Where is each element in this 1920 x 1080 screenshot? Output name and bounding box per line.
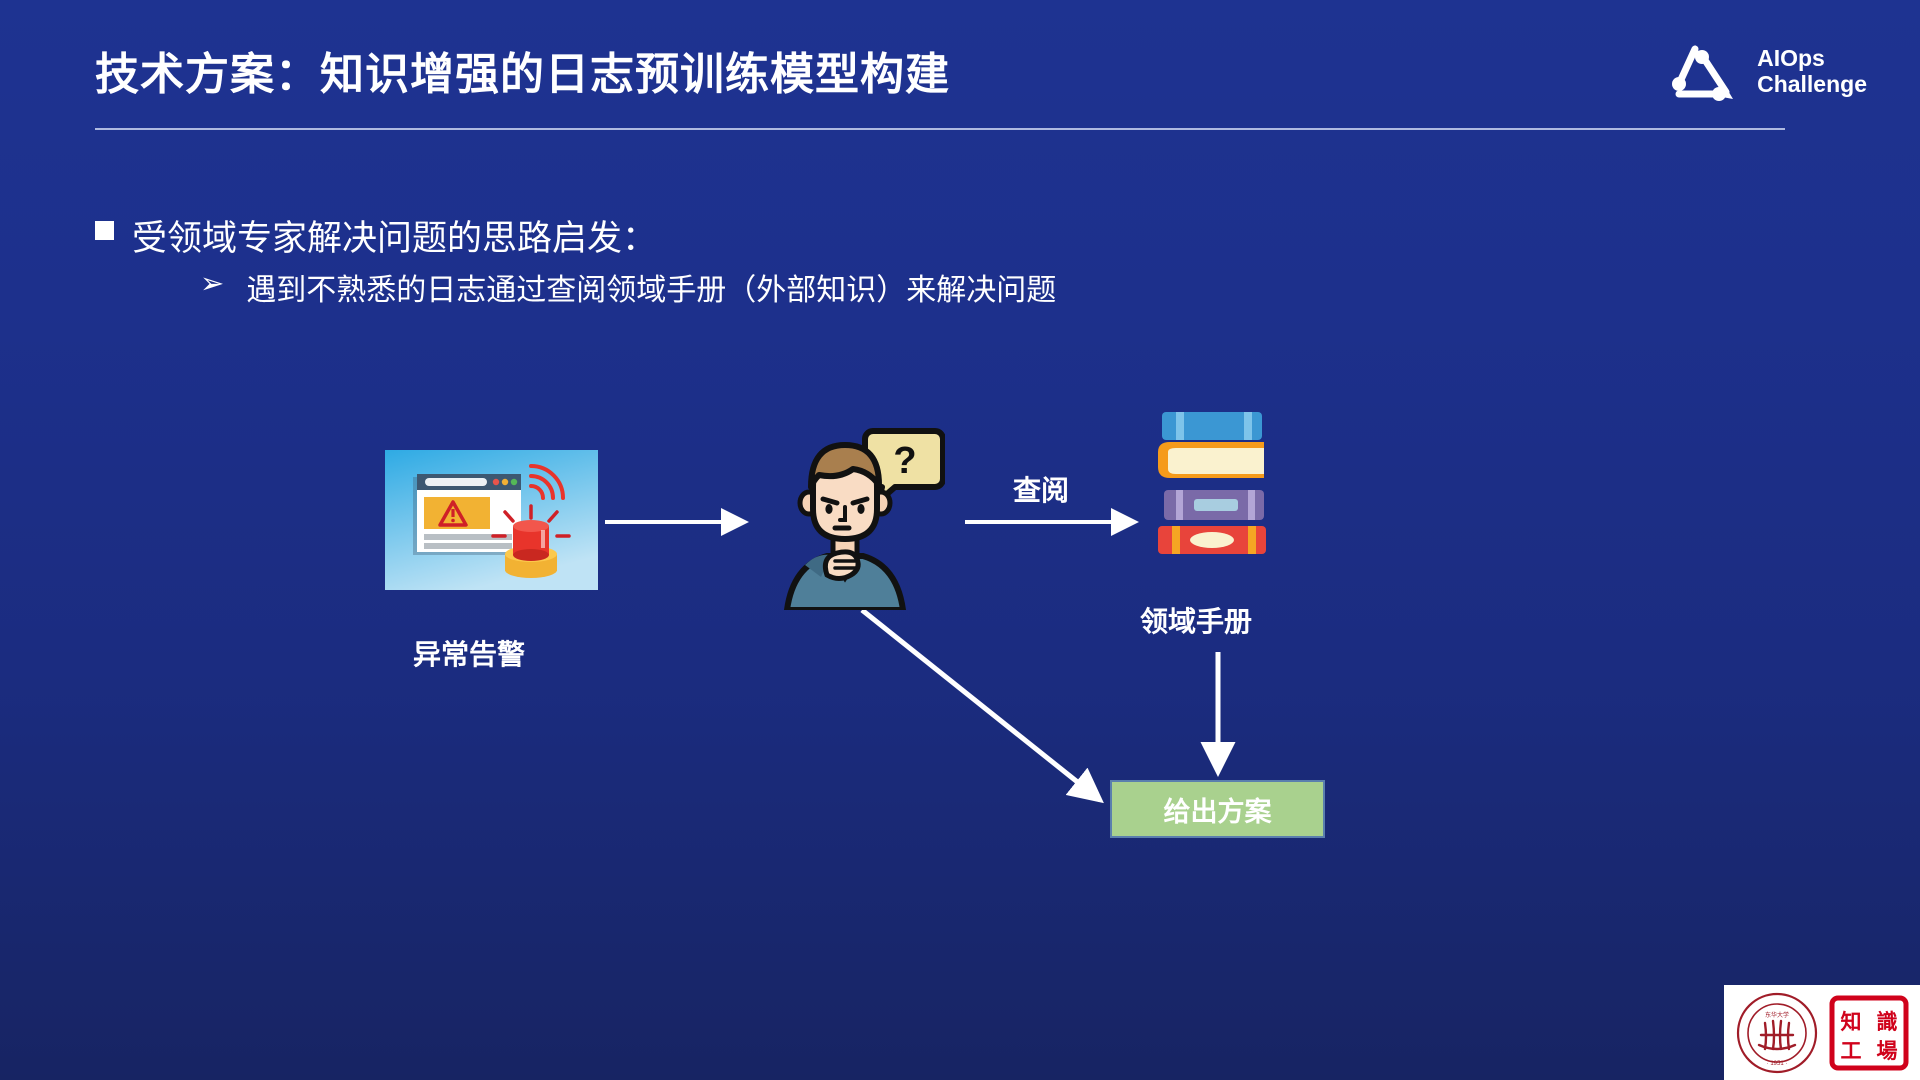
svg-text:場: 場 [1877, 1040, 1898, 1063]
svg-text:东华大学: 东华大学 [1765, 1011, 1789, 1019]
page-title: 技术方案：知识增强的日志预训练模型构建 [95, 38, 950, 102]
node-label-manual: 领域手册 [1140, 600, 1252, 640]
aiops-logo-text: AIOps Challenge [1757, 46, 1867, 98]
bullet-secondary-text: 遇到不熟悉的日志通过查阅领域手册（外部知识）来解决问题 [246, 265, 1056, 309]
aiops-challenge-logo: AIOps Challenge [1669, 37, 1867, 107]
alert-siren-browser-icon [385, 450, 598, 590]
svg-text:· 1951 ·: · 1951 · [1767, 1061, 1788, 1067]
aiops-logo-line2: Challenge [1757, 72, 1867, 98]
square-bullet-icon [95, 221, 114, 240]
title-divider [95, 128, 1785, 130]
node-label-alert: 异常告警 [413, 633, 525, 673]
knowledge-factory-stamp: 知 識 工 場 [1829, 993, 1909, 1073]
arrow-expert-to-solution [862, 610, 1100, 800]
donghua-university-seal: 东华大学 · 1951 · [1735, 991, 1819, 1075]
slide-root: 技术方案：知识增强的日志预训练模型构建 AIOps Challenge 受领域专… [0, 0, 1920, 1080]
svg-text:工: 工 [1841, 1040, 1862, 1063]
bullet-primary-text: 受领域专家解决问题的思路启发： [132, 210, 657, 261]
footer-logos: 东华大学 · 1951 · 知 識 工 場 [1724, 985, 1920, 1080]
aiops-triangle-icon [1669, 37, 1743, 107]
puzzled-person-icon: ? [765, 425, 945, 610]
aiops-logo-line1: AIOps [1757, 46, 1867, 72]
node-solution-box: 给出方案 [1110, 780, 1325, 838]
bullet-item-primary: 受领域专家解决问题的思路启发： [95, 210, 657, 261]
svg-text:知: 知 [1841, 1010, 1862, 1034]
bullet-item-secondary: ➢ 遇到不熟悉的日志通过查阅领域手册（外部知识）来解决问题 [200, 265, 1056, 309]
workflow-diagram: ? [0, 0, 1920, 1080]
svg-text:識: 識 [1877, 1010, 1898, 1034]
svg-text:?: ? [893, 440, 916, 482]
diagram-arrows [0, 0, 1920, 1080]
arrow-bullet-icon: ➢ [200, 265, 224, 304]
edge-label-consult: 查阅 [1013, 469, 1069, 509]
book-stack-icon [1148, 408, 1276, 556]
